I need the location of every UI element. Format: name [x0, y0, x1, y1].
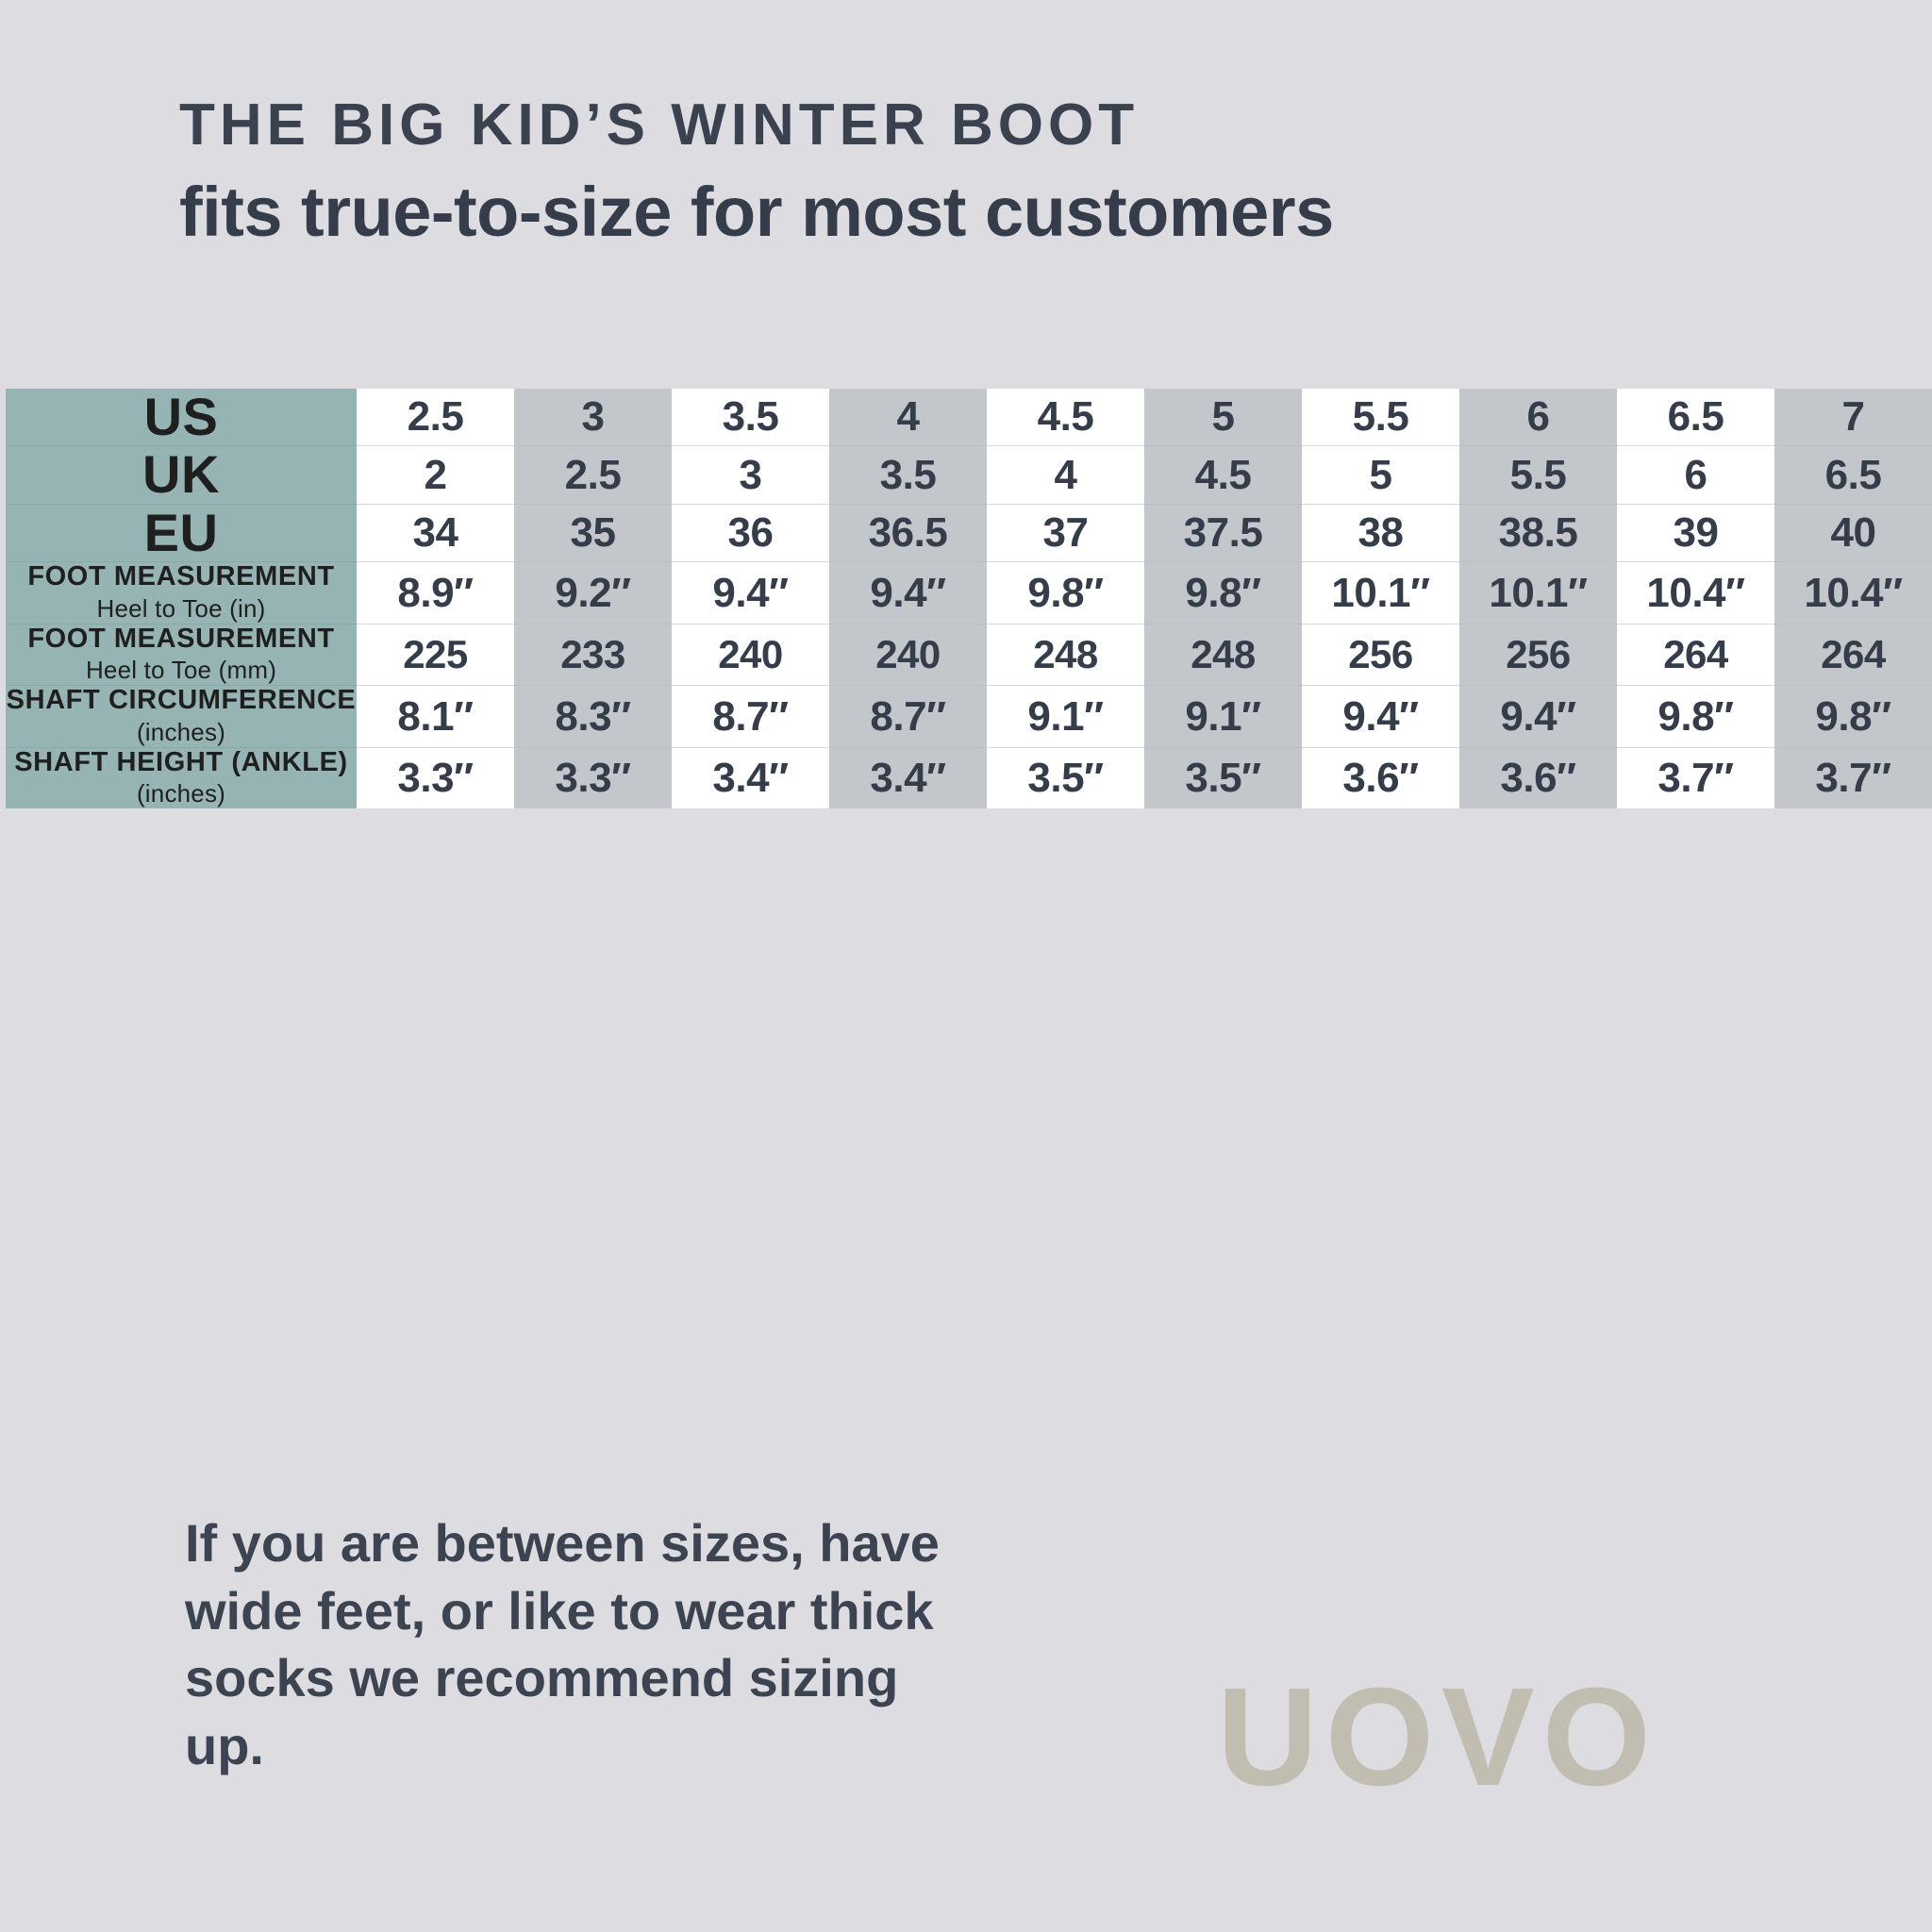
cell-us-7: 6 — [1459, 389, 1617, 446]
cell-shaft-height-4: 3.5″ — [987, 747, 1144, 808]
cell-eu-3: 36.5 — [829, 504, 987, 561]
cell-eu-1: 35 — [514, 504, 672, 561]
table-row-shaft-height: SHAFT HEIGHT (ANKLE) (inches) 3.3″ 3.3″ … — [6, 747, 1932, 808]
cell-us-6: 5.5 — [1302, 389, 1459, 446]
cell-shaft-circ-8: 9.8″ — [1617, 686, 1774, 748]
cell-eu-4: 37 — [987, 504, 1144, 561]
cell-us-4: 4.5 — [987, 389, 1144, 446]
cell-shaft-height-3: 3.4″ — [829, 747, 987, 808]
row-label-shaft-circumference-sub: (inches) — [6, 718, 357, 747]
row-label-uk-main: UK — [6, 446, 357, 503]
cell-foot-in-9: 10.4″ — [1774, 562, 1932, 625]
cell-eu-7: 38.5 — [1459, 504, 1617, 561]
cell-eu-8: 39 — [1617, 504, 1774, 561]
cell-shaft-circ-1: 8.3″ — [514, 686, 672, 748]
cell-shaft-circ-4: 9.1″ — [987, 686, 1144, 748]
cell-uk-8: 6 — [1617, 446, 1774, 504]
page-heading: THE BIG KID’S WINTER BOOT fits true-to-s… — [0, 91, 1932, 258]
row-label-foot-mm-sub: Heel to Toe (mm) — [6, 656, 357, 685]
row-label-foot-in-sub: Heel to Toe (in) — [6, 594, 357, 624]
cell-foot-in-2: 9.4″ — [672, 562, 829, 625]
cell-foot-mm-0: 225 — [357, 624, 514, 686]
uovo-logo: UOVO — [1217, 1668, 1658, 1807]
cell-foot-mm-7: 256 — [1459, 624, 1617, 686]
page-title-line1: THE BIG KID’S WINTER BOOT — [179, 91, 1753, 159]
cell-us-9: 7 — [1774, 389, 1932, 446]
cell-foot-in-5: 9.8″ — [1144, 562, 1302, 625]
cell-uk-7: 5.5 — [1459, 446, 1617, 504]
row-label-shaft-circumference: SHAFT CIRCUMFERENCE (inches) — [6, 686, 357, 748]
row-label-us-main: US — [6, 389, 357, 445]
cell-shaft-height-9: 3.7″ — [1774, 747, 1932, 808]
cell-us-0: 2.5 — [357, 389, 514, 446]
cell-shaft-circ-6: 9.4″ — [1302, 686, 1459, 748]
size-chart-table: US 2.5 3 3.5 4 4.5 5 5.5 6 6.5 7 UK 2 2.… — [6, 389, 1932, 808]
cell-eu-6: 38 — [1302, 504, 1459, 561]
cell-foot-mm-5: 248 — [1144, 624, 1302, 686]
cell-eu-5: 37.5 — [1144, 504, 1302, 561]
cell-foot-mm-4: 248 — [987, 624, 1144, 686]
table-row-foot-in: FOOT MEASUREMENT Heel to Toe (in) 8.9″ 9… — [6, 562, 1932, 625]
cell-us-5: 5 — [1144, 389, 1302, 446]
cell-us-3: 4 — [829, 389, 987, 446]
cell-foot-in-1: 9.2″ — [514, 562, 672, 625]
row-label-foot-mm: FOOT MEASUREMENT Heel to Toe (mm) — [6, 624, 357, 686]
row-label-foot-in: FOOT MEASUREMENT Heel to Toe (in) — [6, 562, 357, 625]
cell-shaft-height-7: 3.6″ — [1459, 747, 1617, 808]
row-label-shaft-height-main: SHAFT HEIGHT (ANKLE) — [6, 748, 357, 777]
cell-uk-1: 2.5 — [514, 446, 672, 504]
cell-foot-in-3: 9.4″ — [829, 562, 987, 625]
cell-uk-3: 3.5 — [829, 446, 987, 504]
table-row-eu: EU 34 35 36 36.5 37 37.5 38 38.5 39 40 — [6, 504, 1932, 561]
cell-shaft-circ-9: 9.8″ — [1774, 686, 1932, 748]
cell-foot-mm-6: 256 — [1302, 624, 1459, 686]
row-label-shaft-height-sub: (inches) — [6, 779, 357, 808]
cell-uk-0: 2 — [357, 446, 514, 504]
page-title-line2: fits true-to-size for most customers — [179, 167, 1753, 258]
cell-shaft-circ-5: 9.1″ — [1144, 686, 1302, 748]
cell-uk-6: 5 — [1302, 446, 1459, 504]
cell-foot-mm-3: 240 — [829, 624, 987, 686]
row-label-shaft-circumference-main: SHAFT CIRCUMFERENCE — [6, 686, 357, 715]
row-label-foot-in-main: FOOT MEASUREMENT — [6, 562, 357, 591]
row-label-shaft-height: SHAFT HEIGHT (ANKLE) (inches) — [6, 747, 357, 808]
cell-shaft-height-1: 3.3″ — [514, 747, 672, 808]
cell-foot-mm-9: 264 — [1774, 624, 1932, 686]
table-row-us: US 2.5 3 3.5 4 4.5 5 5.5 6 6.5 7 — [6, 389, 1932, 446]
row-label-foot-mm-main: FOOT MEASUREMENT — [6, 625, 357, 654]
cell-shaft-circ-2: 8.7″ — [672, 686, 829, 748]
cell-foot-mm-2: 240 — [672, 624, 829, 686]
cell-shaft-height-0: 3.3″ — [357, 747, 514, 808]
table-row-uk: UK 2 2.5 3 3.5 4 4.5 5 5.5 6 6.5 — [6, 446, 1932, 504]
cell-foot-in-6: 10.1″ — [1302, 562, 1459, 625]
row-label-us: US — [6, 389, 357, 446]
table-row-shaft-circumference: SHAFT CIRCUMFERENCE (inches) 8.1″ 8.3″ 8… — [6, 686, 1932, 748]
cell-us-8: 6.5 — [1617, 389, 1774, 446]
cell-shaft-height-5: 3.5″ — [1144, 747, 1302, 808]
cell-shaft-circ-0: 8.1″ — [357, 686, 514, 748]
cell-foot-mm-8: 264 — [1617, 624, 1774, 686]
sizing-advice-note: If you are between sizes, have wide feet… — [185, 1509, 958, 1780]
row-label-eu: EU — [6, 504, 357, 561]
cell-uk-2: 3 — [672, 446, 829, 504]
cell-us-1: 3 — [514, 389, 672, 446]
cell-uk-5: 4.5 — [1144, 446, 1302, 504]
cell-shaft-height-2: 3.4″ — [672, 747, 829, 808]
cell-shaft-height-8: 3.7″ — [1617, 747, 1774, 808]
cell-uk-9: 6.5 — [1774, 446, 1932, 504]
cell-eu-2: 36 — [672, 504, 829, 561]
cell-eu-9: 40 — [1774, 504, 1932, 561]
cell-shaft-height-6: 3.6″ — [1302, 747, 1459, 808]
cell-foot-in-7: 10.1″ — [1459, 562, 1617, 625]
row-label-uk: UK — [6, 446, 357, 504]
cell-foot-mm-1: 233 — [514, 624, 672, 686]
cell-eu-0: 34 — [357, 504, 514, 561]
cell-foot-in-8: 10.4″ — [1617, 562, 1774, 625]
cell-uk-4: 4 — [987, 446, 1144, 504]
cell-foot-in-0: 8.9″ — [357, 562, 514, 625]
cell-shaft-circ-7: 9.4″ — [1459, 686, 1617, 748]
cell-shaft-circ-3: 8.7″ — [829, 686, 987, 748]
row-label-eu-main: EU — [6, 505, 357, 561]
cell-foot-in-4: 9.8″ — [987, 562, 1144, 625]
table-row-foot-mm: FOOT MEASUREMENT Heel to Toe (mm) 225 23… — [6, 624, 1932, 686]
table-body: US 2.5 3 3.5 4 4.5 5 5.5 6 6.5 7 UK 2 2.… — [6, 389, 1932, 808]
cell-us-2: 3.5 — [672, 389, 829, 446]
